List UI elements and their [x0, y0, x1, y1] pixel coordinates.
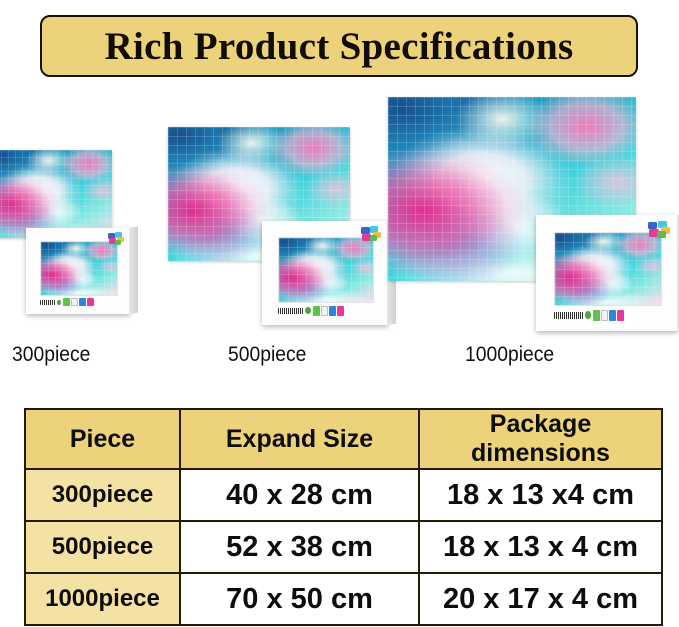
brand-block-pink	[87, 298, 94, 306]
product-showcase	[0, 95, 679, 375]
box-cover-artwork	[278, 237, 373, 303]
page-title-banner: Rich Product Specifications	[40, 15, 638, 77]
cell-piece: 500piece	[25, 521, 180, 573]
box-logo-strip	[278, 304, 344, 318]
box-side-panel	[129, 227, 138, 314]
product-caption-1000: 1000piece	[465, 343, 554, 367]
product-group-500	[168, 127, 390, 335]
column-header-piece: Piece	[25, 409, 180, 469]
barcode-icon	[40, 300, 55, 305]
brand-block-white	[321, 306, 328, 315]
logo-dot-icon	[57, 300, 61, 306]
product-caption-300: 300piece	[12, 343, 90, 367]
puzzle-pieces-icon	[360, 226, 381, 243]
product-group-300	[0, 150, 146, 335]
cell-expand-size: 70 x 50 cm	[180, 573, 419, 625]
puzzle-box-300	[26, 228, 130, 314]
brand-blocks-icon	[63, 298, 94, 306]
puzzle-box-1000	[536, 215, 678, 331]
cell-package-dimensions: 18 x 13 x 4 cm	[419, 521, 662, 573]
cloud-artwork	[41, 242, 118, 295]
cloud-artwork	[555, 233, 660, 305]
brand-block-pink	[617, 310, 624, 321]
cloud-artwork	[0, 150, 112, 238]
puzzle-poster-300	[0, 150, 112, 238]
brand-block-white	[601, 310, 608, 321]
brand-block-white	[71, 298, 78, 306]
brand-block-green	[593, 310, 600, 321]
barcode-icon	[278, 308, 303, 314]
box-cover-artwork	[40, 241, 119, 296]
logo-dot-icon	[585, 311, 592, 319]
column-header-package: Package dimensions	[419, 409, 662, 469]
puzzle-piece-green	[370, 235, 377, 241]
cell-piece: 300piece	[25, 469, 180, 521]
box-logo-strip	[40, 297, 94, 308]
box-cover-artwork	[554, 232, 661, 306]
product-group-1000	[388, 97, 678, 335]
brand-block-green	[313, 306, 320, 315]
table-row: 1000piece 70 x 50 cm 20 x 17 x 4 cm	[25, 573, 662, 625]
product-caption-500: 500piece	[228, 343, 306, 367]
barcode-icon	[554, 312, 582, 319]
puzzle-piece-green	[657, 231, 665, 238]
brand-block-blue	[609, 310, 616, 321]
specifications-table: Piece Expand Size Package dimensions 300…	[24, 408, 663, 626]
logo-dot-icon	[305, 307, 311, 314]
cell-package-dimensions: 18 x 13 x4 cm	[419, 469, 662, 521]
brand-block-blue	[79, 298, 86, 306]
puzzle-pieces-icon	[647, 221, 671, 240]
puzzle-piece-blue	[361, 227, 370, 234]
table-row: 300piece 40 x 28 cm 18 x 13 x4 cm	[25, 469, 662, 521]
cell-expand-size: 40 x 28 cm	[180, 469, 419, 521]
box-logo-strip	[554, 308, 628, 323]
brand-blocks-icon	[313, 306, 344, 315]
puzzle-piece-green	[115, 240, 121, 245]
page-title: Rich Product Specifications	[105, 27, 574, 66]
brand-blocks-icon	[593, 310, 624, 321]
brand-block-blue	[329, 306, 336, 315]
cell-expand-size: 52 x 38 cm	[180, 521, 419, 573]
puzzle-box-500	[262, 221, 388, 325]
cloud-artwork	[279, 238, 372, 302]
table-row: 500piece 52 x 38 cm 18 x 13 x 4 cm	[25, 521, 662, 573]
puzzle-pieces-icon	[107, 232, 125, 246]
brand-block-pink	[337, 306, 344, 315]
cell-package-dimensions: 20 x 17 x 4 cm	[419, 573, 662, 625]
brand-block-green	[63, 298, 70, 306]
table-header-row: Piece Expand Size Package dimensions	[25, 409, 662, 469]
cell-piece: 1000piece	[25, 573, 180, 625]
column-header-expand: Expand Size	[180, 409, 419, 469]
